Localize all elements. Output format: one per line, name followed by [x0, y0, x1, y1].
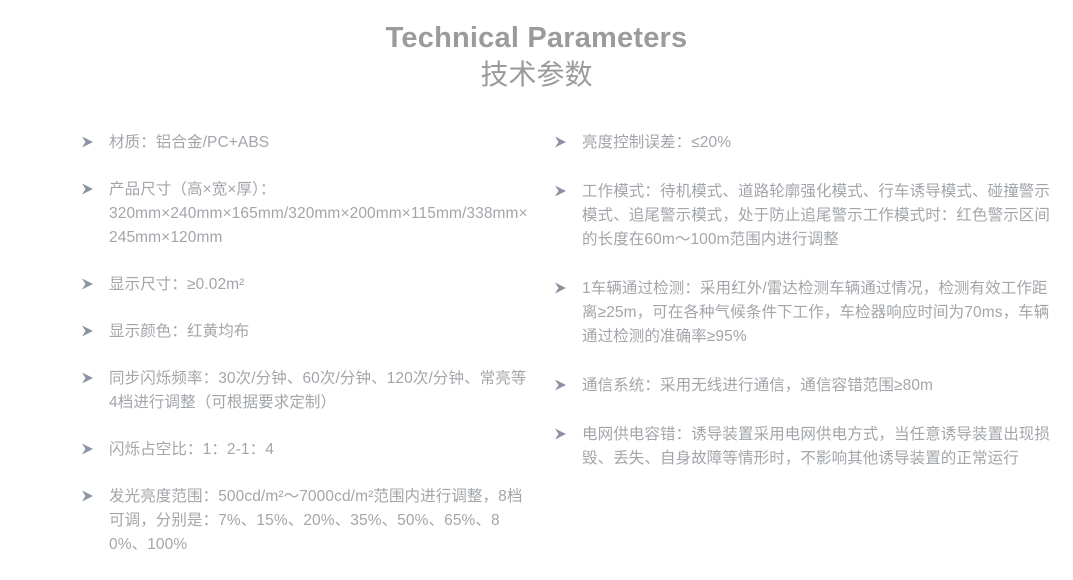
- spec-item-luminance-range: 发光亮度范围：500cd/m²～7000cd/m²范围内进行调整，8档可调，分别…: [80, 485, 535, 557]
- spec-item-text: 通信系统：采用无线进行通信，通信容错范围≥80m: [582, 374, 1053, 398]
- spec-column-right: 亮度控制误差：≤20% 工作模式：待机模式、道路轮廓强化模式、行车诱导模式、碰撞…: [545, 131, 1073, 496]
- specifications-area: 材质：铝合金/PC+ABS 产品尺寸（高×宽×厚）： 320mm×240mm×1…: [0, 131, 1073, 580]
- spec-item-brightness-control-error: 亮度控制误差：≤20%: [553, 131, 1053, 155]
- spec-item-working-modes: 工作模式：待机模式、道路轮廓强化模式、行车诱导模式、碰撞警示模式、追尾警示模式，…: [553, 180, 1053, 252]
- arrow-bullet-icon: [80, 489, 96, 503]
- page-title-chinese: 技术参数: [0, 56, 1073, 94]
- arrow-bullet-icon: [80, 324, 96, 338]
- spec-item-text: 同步闪烁频率：30次/分钟、60次/分钟、120次/分钟、常亮等4档进行调整（可…: [109, 367, 535, 415]
- arrow-bullet-icon: [80, 277, 96, 291]
- spec-item-communication-system: 通信系统：采用无线进行通信，通信容错范围≥80m: [553, 374, 1053, 398]
- arrow-bullet-icon: [553, 184, 569, 198]
- spec-column-left: 材质：铝合金/PC+ABS 产品尺寸（高×宽×厚）： 320mm×240mm×1…: [0, 131, 545, 580]
- spec-item-vehicle-passage-detection: 1车辆通过检测：采用红外/雷达检测车辆通过情况，检测有效工作距离≥25m，可在各…: [553, 277, 1053, 349]
- arrow-bullet-icon: [553, 281, 569, 295]
- spec-item-product-dimensions: 产品尺寸（高×宽×厚）： 320mm×240mm×165mm/320mm×200…: [80, 178, 535, 250]
- spec-item-flash-duty-cycle: 闪烁占空比：1：2-1：4: [80, 438, 535, 462]
- arrow-bullet-icon: [553, 427, 569, 441]
- spec-item-text: 产品尺寸（高×宽×厚）： 320mm×240mm×165mm/320mm×200…: [109, 178, 535, 250]
- spec-item-text: 亮度控制误差：≤20%: [582, 131, 1053, 155]
- spec-item-sync-flash-frequency: 同步闪烁频率：30次/分钟、60次/分钟、120次/分钟、常亮等4档进行调整（可…: [80, 367, 535, 415]
- spec-item-text: 电网供电容错：诱导装置采用电网供电方式，当任意诱导装置出现损毁、丢失、自身故障等…: [582, 423, 1053, 471]
- spec-item-text: 闪烁占空比：1：2-1：4: [109, 438, 535, 462]
- spec-item-material: 材质：铝合金/PC+ABS: [80, 131, 535, 155]
- page-title-block: Technical Parameters 技术参数: [0, 0, 1073, 94]
- spec-item-text: 显示尺寸：≥0.02m²: [109, 273, 535, 297]
- spec-item-text: 发光亮度范围：500cd/m²～7000cd/m²范围内进行调整，8档可调，分别…: [109, 485, 535, 557]
- spec-item-text: 1车辆通过检测：采用红外/雷达检测车辆通过情况，检测有效工作距离≥25m，可在各…: [582, 277, 1053, 349]
- arrow-bullet-icon: [80, 371, 96, 385]
- spec-item-display-color: 显示颜色：红黄均布: [80, 320, 535, 344]
- page-title-english: Technical Parameters: [0, 22, 1073, 54]
- arrow-bullet-icon: [553, 378, 569, 392]
- arrow-bullet-icon: [80, 135, 96, 149]
- arrow-bullet-icon: [80, 442, 96, 456]
- spec-item-text: 显示颜色：红黄均布: [109, 320, 535, 344]
- arrow-bullet-icon: [80, 182, 96, 196]
- spec-item-text: 材质：铝合金/PC+ABS: [109, 131, 535, 155]
- arrow-bullet-icon: [553, 135, 569, 149]
- spec-item-grid-power-fault-tolerance: 电网供电容错：诱导装置采用电网供电方式，当任意诱导装置出现损毁、丢失、自身故障等…: [553, 423, 1053, 471]
- spec-item-text: 工作模式：待机模式、道路轮廓强化模式、行车诱导模式、碰撞警示模式、追尾警示模式，…: [582, 180, 1053, 252]
- spec-item-display-size: 显示尺寸：≥0.02m²: [80, 273, 535, 297]
